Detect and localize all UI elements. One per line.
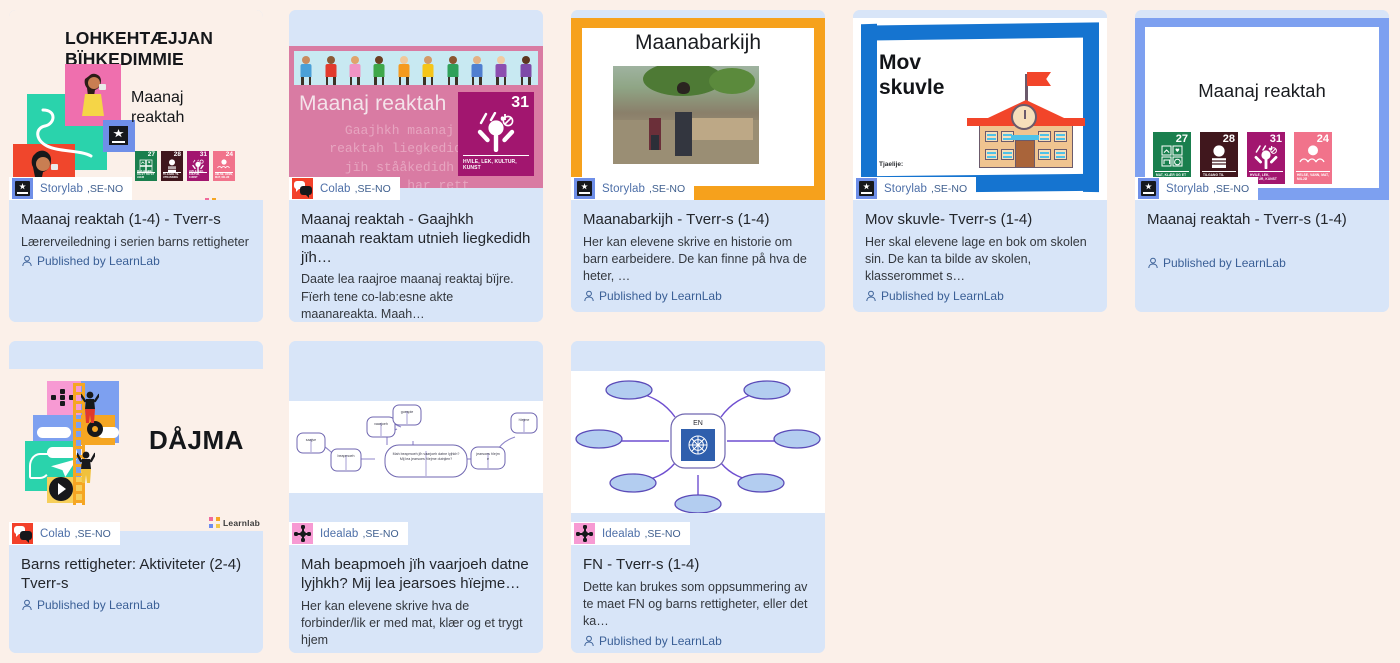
provider-name: Storylab — [602, 183, 645, 195]
provider-locale: ,SE-NO — [362, 528, 398, 540]
provider-locale: ,SE-NO — [75, 528, 111, 540]
resource-card-grid: LOHKEHTÆJJAN BÏHKEDIMMIE — [0, 0, 1400, 663]
idealab-icon — [574, 523, 595, 544]
card-title[interactable]: Mov skuvle- Tverr-s (1-4) — [865, 211, 1095, 230]
school-building-icon — [967, 82, 1085, 174]
sdg-caption: HVILE, LEK, KULTUR, KUNST — [189, 170, 207, 179]
thumb-orange-frame-photo: Maanabarkijh — [571, 18, 825, 200]
poster-title: Mov skuvle — [879, 50, 975, 100]
provider-name: Storylab — [884, 183, 927, 195]
svg-text:saajve: saajve — [306, 438, 316, 442]
provider-locale: ,SE-NO — [644, 528, 680, 540]
idealab-icon — [292, 523, 313, 544]
sdg-number: 24 — [1317, 134, 1329, 145]
person-icon — [583, 290, 595, 302]
sdg-glyph-icon — [475, 112, 517, 152]
provider-name: Storylab — [40, 183, 83, 195]
sdg-caption: HVILE, LEK, KULTUR, KUNST — [463, 159, 530, 172]
card-title[interactable]: Maanaj reaktah (1-4) - Tverr-s — [21, 211, 251, 230]
provider-chip[interactable]: Idealab ,SE-NO — [289, 522, 408, 545]
resource-card[interactable]: EN Idealab ,SE-NO FN - Tverr-s (1-4) Det… — [571, 341, 825, 653]
card-publisher: Published by LearnLab — [865, 289, 1095, 303]
colab-icon — [12, 523, 33, 544]
poster-subheading: Maanaj reaktah — [131, 88, 241, 128]
learnlab-logo: Learnlab — [209, 517, 260, 528]
swirl-icon — [29, 453, 51, 479]
thumb-mindmap-un: EN — [571, 371, 825, 513]
svg-text:guespie: guespie — [401, 410, 414, 414]
sdg-caption: HELSE, VANN, MAT, MILJØ — [215, 173, 233, 179]
sdg-number: 24 — [226, 152, 233, 159]
sdg-caption: HELSE, VANN, MAT, MILJØ — [1297, 173, 1329, 181]
sdg-glyph-icon — [217, 159, 232, 171]
card-publisher: Published by LearnLab — [583, 289, 813, 303]
photo-children-working — [613, 66, 759, 164]
resource-card[interactable]: Maanaj reaktah Gaajhkh maanaj reaktah li… — [289, 10, 543, 322]
provider-name: Colab — [40, 528, 71, 540]
climber-figure-icon — [81, 391, 99, 425]
card-description: Her kan elevene skrive en historie om ba… — [583, 234, 813, 286]
publisher-label: Published by LearnLab — [37, 598, 160, 612]
storylab-icon — [1138, 178, 1159, 199]
svg-text:Mij lea jearsoes hïejme dutnji: Mij lea jearsoes hïejme dutnjien? — [400, 457, 452, 461]
resource-card[interactable]: Maanaj reaktah 27 MAT, KLÆR OG ET TRYGT … — [1135, 10, 1389, 312]
resource-card[interactable]: LOHKEHTÆJJAN BÏHKEDIMMIE — [9, 10, 263, 322]
card-title[interactable]: Maanabarkijh - Tverr-s (1-4) — [583, 211, 813, 230]
provider-name: Colab — [320, 183, 351, 195]
child-figure — [516, 55, 536, 85]
card-description: Her skal elevene lage en bok om skolen s… — [865, 234, 1095, 286]
learnlab-wordmark: Learnlab — [223, 518, 260, 528]
storylab-icon — [856, 178, 877, 199]
colab-icon — [292, 178, 313, 199]
sdg-glyph-icon — [1209, 145, 1229, 168]
child-figure — [369, 55, 389, 85]
child-figure — [418, 55, 438, 85]
provider-locale: ,SE-NO — [931, 183, 967, 195]
card-description: Her kan elevene skrive hva de forbinder/… — [301, 598, 531, 650]
svg-text:vaarjoeh: vaarjoeh — [374, 422, 388, 426]
sdg-glyph-icon — [1161, 145, 1183, 167]
sdg-number: 31 — [511, 95, 529, 111]
provider-locale: ,SE-NO — [87, 183, 123, 195]
sdg-glyph-icon — [166, 159, 178, 172]
card-title[interactable]: Mah beapmoeh jïh vaarjoeh datne lyjhkh? … — [301, 556, 531, 594]
thumb-blue-frame-school: Mov skuvle Tjaelije: — [853, 18, 1107, 200]
card-body: Maanaj reaktah - Gaajhkh maanah reaktam … — [289, 200, 543, 322]
child-figure — [296, 55, 316, 85]
publisher-label: Published by LearnLab — [599, 289, 722, 303]
card-thumbnail: EN Idealab ,SE-NO — [571, 341, 825, 545]
card-description: Daate lea raajroe maanaj reaktaj bïjre. … — [301, 271, 531, 322]
thumb-blue-frame-sdg: Maanaj reaktah 27 MAT, KLÆR OG ET TRYGT … — [1135, 18, 1389, 200]
provider-chip[interactable]: Storylab ,SE-NO — [1135, 177, 1258, 200]
sdg-badge-group: 31 HVILE, LEK, KULTUR, KUNST — [458, 92, 534, 176]
person-icon — [865, 290, 877, 302]
provider-name: Idealab — [320, 528, 358, 540]
svg-text:e: e — [487, 457, 489, 461]
thumb-dajma-illustration: DÅJMA Learnlab — [9, 369, 263, 531]
card-description — [1147, 234, 1377, 253]
thumb-mindmap-light: saajve beapmoeh vaarjoeh guespie Mah bea… — [289, 401, 543, 493]
resource-card[interactable]: DÅJMA Learnlab Colab ,SE-NO Barns rettig… — [9, 341, 263, 653]
resource-card[interactable]: Mov skuvle Tjaelije: — [853, 10, 1107, 312]
person-icon — [1147, 257, 1159, 269]
poster-caption: Tjaelije: — [879, 161, 903, 168]
sdg-number: 31 — [200, 152, 207, 159]
publisher-label: Published by LearnLab — [1163, 256, 1286, 270]
card-thumbnail: Maanaj reaktah 27 MAT, KLÆR OG ET TRYGT … — [1135, 10, 1389, 200]
child-figure — [321, 55, 341, 85]
dajma-artwork — [25, 381, 137, 503]
sdg-badge: 24 HELSE, VANN, MAT, MILJØ — [1294, 132, 1332, 184]
play-icon — [49, 477, 73, 501]
storylab-icon — [12, 178, 33, 199]
dajma-wordmark: DÅJMA — [149, 425, 244, 456]
publisher-label: Published by LearnLab — [37, 254, 160, 268]
sdg-caption: TILGANG TIL UTDANNING — [163, 173, 181, 179]
card-body: Barns rettigheter: Aktiviteter (2-4) Tve… — [9, 545, 263, 653]
card-body: Maanabarkijh - Tverr-s (1-4) Her kan ele… — [571, 200, 825, 312]
learnlab-mark-icon — [209, 517, 220, 528]
person-icon — [583, 635, 595, 647]
child-figure — [467, 55, 487, 85]
card-thumbnail: Maanaj reaktah Gaajhkh maanaj reaktah li… — [289, 10, 543, 200]
child-figure — [443, 55, 463, 85]
card-thumbnail: saajve beapmoeh vaarjoeh guespie Mah bea… — [289, 341, 543, 545]
mindmap-center-label: EN — [693, 420, 703, 427]
provider-chip[interactable]: Storylab ,SE-NO — [853, 177, 976, 200]
svg-text:jearsoes hïejm: jearsoes hïejm — [475, 452, 499, 456]
learnlab-mark-icon — [205, 198, 216, 200]
child-figure — [345, 55, 365, 85]
card-publisher: Published by LearnLab — [21, 254, 251, 268]
card-body: Mah beapmoeh jïh vaarjoeh datne lyjhkh? … — [289, 545, 543, 653]
publisher-label: Published by LearnLab — [317, 652, 440, 653]
card-description: Lærerveiledning i serien barns rettighet… — [21, 234, 251, 251]
resource-card[interactable]: saajve beapmoeh vaarjoeh guespie Mah bea… — [289, 341, 543, 653]
sdg-number: 28 — [174, 152, 181, 159]
person-icon — [21, 255, 33, 267]
provider-locale: ,SE-NO — [355, 183, 391, 195]
card-title[interactable]: Maanaj reaktah - Gaajhkh maanah reaktam … — [301, 211, 531, 267]
card-publisher: Published by LearnLab — [301, 652, 531, 653]
provider-name: Storylab — [1166, 183, 1209, 195]
card-body: Maanaj reaktah (1-4) - Tverr-s Lærerveil… — [9, 200, 263, 322]
child-figure — [394, 55, 414, 85]
sdg-number: 27 — [148, 152, 155, 159]
svg-text:beapmoeh: beapmoeh — [338, 454, 355, 458]
poster-title: Maanaj reaktah — [1135, 80, 1389, 102]
provider-chip[interactable]: Storylab ,SE-NO — [571, 177, 694, 200]
card-publisher: Published by LearnLab — [21, 598, 251, 612]
provider-chip[interactable]: Idealab ,SE-NO — [571, 522, 690, 545]
children-illustration — [294, 51, 538, 85]
card-body: Maanaj reaktah - Tverr-s (1-4) Published… — [1135, 200, 1389, 312]
provider-locale: ,SE-NO — [1213, 183, 1249, 195]
sdg-number: 28 — [1223, 134, 1235, 145]
book-star-icon — [109, 126, 128, 145]
sdg-glyph-icon — [1253, 145, 1279, 169]
card-title[interactable]: FN - Tverr-s (1-4) — [583, 556, 813, 575]
poster-title: Maanabarkijh — [571, 31, 825, 55]
climber-figure-icon — [77, 451, 95, 485]
learnlab-logo: Learnlab — [205, 198, 256, 200]
card-title[interactable]: Maanaj reaktah - Tverr-s (1-4) — [1147, 211, 1377, 230]
mindmap-diagram: EN — [571, 371, 825, 513]
provider-chip[interactable]: Colab ,SE-NO — [9, 522, 120, 545]
thumb-collage-poster: LOHKEHTÆJJAN BÏHKEDIMMIE — [9, 10, 263, 200]
poster-title: Maanaj reaktah — [299, 92, 447, 116]
provider-chip[interactable]: Storylab ,SE-NO — [9, 177, 132, 200]
person-icon — [21, 599, 33, 611]
sdg-badge: 24 HELSE, VANN, MAT, MILJØ — [213, 151, 235, 181]
sdg-badge-group: 27 MAT, KLÆR OG ET TRYGT HJEM 28 — [135, 151, 235, 181]
card-body: FN - Tverr-s (1-4) Dette kan brukes som … — [571, 545, 825, 653]
thumb-pink-poster: Maanaj reaktah Gaajhkh maanaj reaktah li… — [289, 46, 543, 188]
sdg-badge: 28 TILGANG TIL UTDANNING — [161, 151, 183, 181]
card-publisher: Published by LearnLab — [583, 634, 813, 648]
card-thumbnail: LOHKEHTÆJJAN BÏHKEDIMMIE — [9, 10, 263, 200]
sdg-caption: MAT, KLÆR OG ET TRYGT HJEM — [137, 170, 155, 179]
card-title[interactable]: Barns rettigheter: Aktiviteter (2-4) Tve… — [21, 556, 251, 594]
storylab-icon — [574, 178, 595, 199]
provider-chip[interactable]: Colab ,SE-NO — [289, 177, 400, 200]
mindmap-diagram: saajve beapmoeh vaarjoeh guespie Mah bea… — [289, 401, 543, 493]
card-thumbnail: Maanabarkijh Storylab ,SE-NO — [571, 10, 825, 200]
learnlab-wordmark: Learnlab — [219, 199, 256, 201]
resource-card[interactable]: Maanabarkijh Storylab ,SE-NO Maanabarkij… — [571, 10, 825, 312]
sdg-glyph-icon — [1299, 145, 1327, 167]
publisher-label: Published by LearnLab — [881, 289, 1004, 303]
svg-text:Mah beapmoeh jïh vaarjoeh datn: Mah beapmoeh jïh vaarjoeh datne lyjhkh? — [393, 452, 460, 456]
sdg-badge: 31 HVILE, LEK, KULTUR, KUNST — [458, 92, 534, 176]
sdg-number: 31 — [1270, 134, 1282, 145]
card-publisher: Published by LearnLab — [1147, 256, 1377, 270]
card-thumbnail: Mov skuvle Tjaelije: — [853, 10, 1107, 200]
child-figure — [491, 55, 511, 85]
card-body: Mov skuvle- Tverr-s (1-4) Her skal eleve… — [853, 200, 1107, 312]
provider-locale: ,SE-NO — [649, 183, 685, 195]
sdg-badge: 31 HVILE, LEK, KULTUR, KUNST — [187, 151, 209, 181]
provider-name: Idealab — [602, 528, 640, 540]
sdg-badge: 27 MAT, KLÆR OG ET TRYGT HJEM — [135, 151, 157, 181]
card-thumbnail: DÅJMA Learnlab Colab ,SE-NO — [9, 341, 263, 545]
publisher-label: Published by LearnLab — [599, 634, 722, 648]
card-description: Dette kan brukes som oppsummering av te … — [583, 579, 813, 631]
svg-text:hïejme: hïejme — [519, 418, 530, 422]
sdg-number: 27 — [1176, 134, 1188, 145]
